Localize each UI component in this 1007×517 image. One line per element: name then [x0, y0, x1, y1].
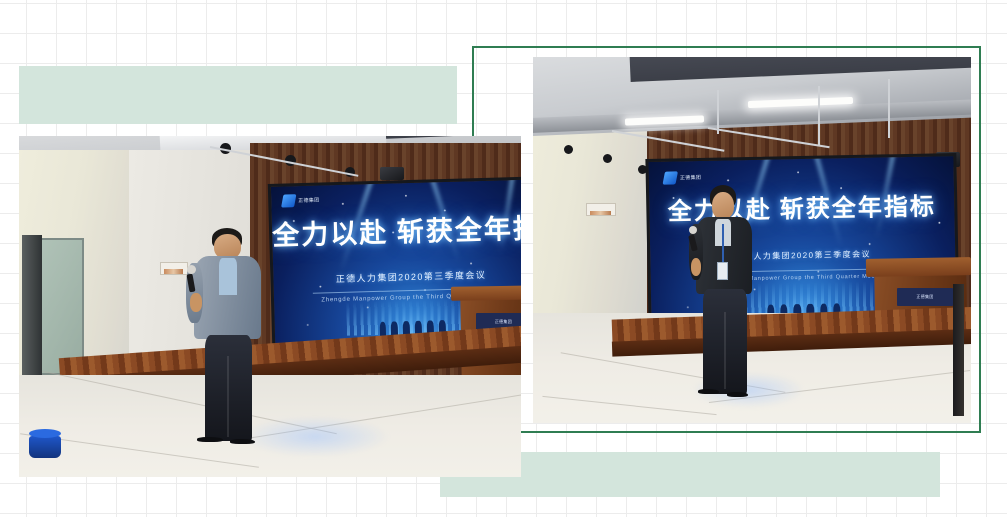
person-speaker [682, 185, 770, 412]
podium-nameplate: 正德集团 [897, 288, 954, 306]
led-headline: 全力以赴 斩获全年指标 [272, 206, 521, 253]
led-brand-logo: 正德集团 [282, 194, 320, 208]
wall-speaker [380, 167, 404, 180]
dark-column [953, 284, 964, 416]
slide-canvas: 正德集团 全力以赴 斩获全年指标 正德人力集团2020第三季度会议 Zhengd… [0, 0, 1007, 517]
rig-drop [888, 79, 890, 138]
rig-drop [717, 90, 719, 134]
person-head [712, 192, 734, 219]
person-speaker [185, 228, 275, 460]
person-shoe [197, 437, 222, 442]
person-hand [691, 258, 702, 276]
door-jamb [22, 235, 42, 378]
brand-mark-icon [663, 171, 679, 184]
waste-bin [29, 436, 61, 458]
brand-mark-icon [281, 194, 296, 207]
right-photo[interactable]: 正德集团 全力以赴 斩获全年指标 正德人力集团2020第三季度会议 Zhengd… [533, 57, 971, 423]
wall-picture-frame [160, 262, 188, 275]
top-mint-block [19, 66, 457, 124]
spotlight [564, 145, 573, 154]
led-brand-logo: 正德集团 [664, 171, 701, 185]
led-logo-text: 正德集团 [680, 174, 701, 181]
person-shoe [698, 389, 719, 394]
person-shoe [230, 439, 255, 444]
person-shoe [727, 392, 748, 397]
podium-top [451, 285, 521, 300]
wall-picture-frame [586, 203, 616, 216]
left-photo[interactable]: 正德集团 全力以赴 斩获全年指标 正德人力集团2020第三季度会议 Zhengd… [19, 136, 521, 477]
spotlight [603, 154, 612, 163]
microphone-head [689, 226, 697, 234]
left-photo-scene: 正德集团 全力以赴 斩获全年指标 正德人力集团2020第三季度会议 Zhengd… [19, 136, 521, 477]
rig-drop [818, 86, 820, 145]
person-badge [717, 262, 728, 280]
person-shirt [219, 258, 237, 295]
bottom-mint-block-tail [440, 477, 940, 497]
right-photo-scene: 正德集团 全力以赴 斩获全年指标 正德人力集团2020第三季度会议 Zhengd… [533, 57, 971, 423]
led-logo-text: 正德集团 [298, 197, 319, 205]
person-lanyard [722, 224, 724, 265]
person-hand [190, 293, 202, 312]
podium-top [866, 257, 971, 277]
